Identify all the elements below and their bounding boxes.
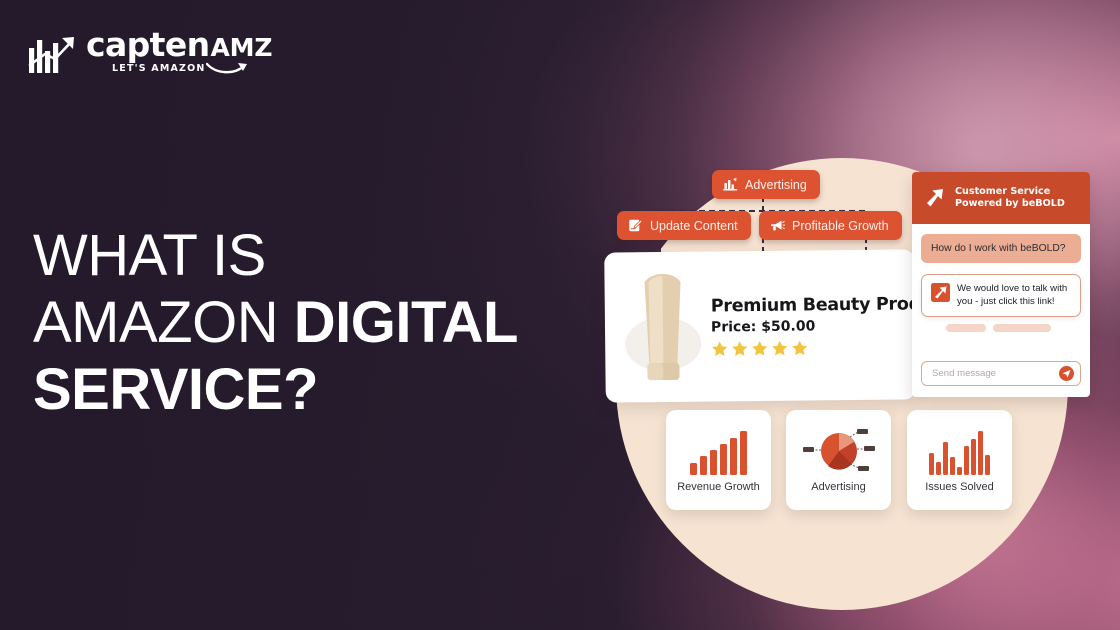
- bar-chart-arrow-icon: [28, 32, 80, 78]
- brand-name-primary: capten: [86, 30, 210, 60]
- chat-messages: How do I work with beBOLD? We would love…: [912, 224, 1090, 352]
- chart-bar: [936, 462, 941, 475]
- star-icon: [751, 339, 768, 356]
- pie-chart-icon: [802, 427, 876, 475]
- chat-message-user: How do I work with beBOLD?: [921, 234, 1081, 263]
- brand-name-secondary: AMZ: [211, 37, 273, 60]
- chat-input-box[interactable]: Send message: [921, 361, 1081, 386]
- brand-avatar-icon: [931, 283, 950, 302]
- metric-card-revenue-growth[interactable]: Revenue Growth: [666, 410, 771, 510]
- headline-line-1: WHAT IS: [33, 222, 518, 289]
- brand-logo[interactable]: capten AMZ LET'S AMAZON: [28, 30, 272, 78]
- star-icon: [711, 340, 728, 357]
- badge-label: Advertising: [745, 178, 807, 192]
- chart-bar: [964, 446, 969, 475]
- brand-tagline: LET'S AMAZON: [112, 63, 206, 74]
- chat-input-area: Send message: [912, 352, 1090, 397]
- star-icon: [731, 340, 748, 357]
- arrow-up-right-icon: [923, 186, 947, 210]
- badge-profitable-growth[interactable]: Profitable Growth: [759, 211, 902, 240]
- chat-input-placeholder: Send message: [932, 368, 996, 379]
- poster-canvas: capten AMZ LET'S AMAZON WHAT IS AMAZON D…: [0, 0, 1120, 630]
- chat-widget[interactable]: Customer Service Powered by beBOLD How d…: [912, 172, 1090, 397]
- chart-bar: [690, 463, 697, 475]
- ascending-bar-chart-icon: [690, 427, 747, 475]
- chart-bar: [700, 456, 707, 475]
- amazon-smile-arrow-icon: [206, 61, 250, 76]
- metric-card-advertising[interactable]: Advertising: [786, 410, 891, 510]
- chart-bar: [740, 431, 747, 475]
- brand-wordmark: capten AMZ LET'S AMAZON: [86, 30, 272, 78]
- chart-bar: [730, 438, 737, 475]
- badge-label: Update Content: [650, 219, 738, 233]
- metric-card-issues-solved[interactable]: Issues Solved: [907, 410, 1012, 510]
- chart-bar: [929, 453, 934, 475]
- megaphone-icon: [770, 218, 785, 233]
- bar-chart-icon: [929, 427, 990, 475]
- product-card[interactable]: Premium Beauty Product Price: $50.00: [604, 249, 916, 402]
- chart-bar: [710, 450, 717, 475]
- chat-quick-replies[interactable]: [921, 324, 1081, 332]
- chart-bar: [985, 455, 990, 475]
- send-paper-plane-icon[interactable]: [1059, 366, 1074, 381]
- cosmetic-tube-icon: [618, 268, 705, 387]
- chart-bar: [943, 442, 948, 475]
- chat-message-bot: We would love to talk with you - just cl…: [921, 274, 1081, 317]
- quick-reply-chip[interactable]: [993, 324, 1051, 332]
- chat-bot-text: We would love to talk with you - just cl…: [957, 283, 1071, 308]
- chart-bar: [978, 431, 983, 475]
- chat-header-line-2: Powered by beBOLD: [955, 198, 1065, 211]
- headline-line-3: SERVICE?: [33, 356, 518, 423]
- edit-document-icon: [628, 218, 643, 233]
- chart-bar: [971, 439, 976, 475]
- quick-reply-chip[interactable]: [946, 324, 986, 332]
- chart-bar: [950, 457, 955, 475]
- bar-chart-icon: [723, 177, 738, 192]
- metric-caption: Issues Solved: [925, 481, 993, 493]
- star-icon: [771, 339, 788, 356]
- headline-text-service: SERVICE?: [33, 357, 318, 422]
- headline-text-digital: DIGITAL: [294, 290, 518, 355]
- chart-bar: [957, 467, 962, 475]
- badge-update-content[interactable]: Update Content: [617, 211, 751, 240]
- badge-label: Profitable Growth: [792, 219, 889, 233]
- chat-header: Customer Service Powered by beBOLD: [912, 172, 1090, 224]
- metric-caption: Revenue Growth: [677, 481, 760, 493]
- chart-bar: [720, 444, 727, 475]
- headline-text-what-is: WHAT IS: [33, 223, 266, 288]
- illustration-group: Advertising Update Content Profitable Gr…: [580, 110, 1120, 610]
- badge-advertising[interactable]: Advertising: [712, 170, 820, 199]
- chat-header-line-1: Customer Service: [955, 186, 1065, 199]
- headline-line-2: AMAZON DIGITAL: [33, 289, 518, 356]
- headline-text-amazon: AMAZON: [33, 290, 294, 355]
- page-title: WHAT IS AMAZON DIGITAL SERVICE?: [33, 222, 518, 423]
- metric-caption: Advertising: [811, 481, 865, 493]
- product-image: [618, 268, 705, 387]
- star-icon: [791, 339, 808, 356]
